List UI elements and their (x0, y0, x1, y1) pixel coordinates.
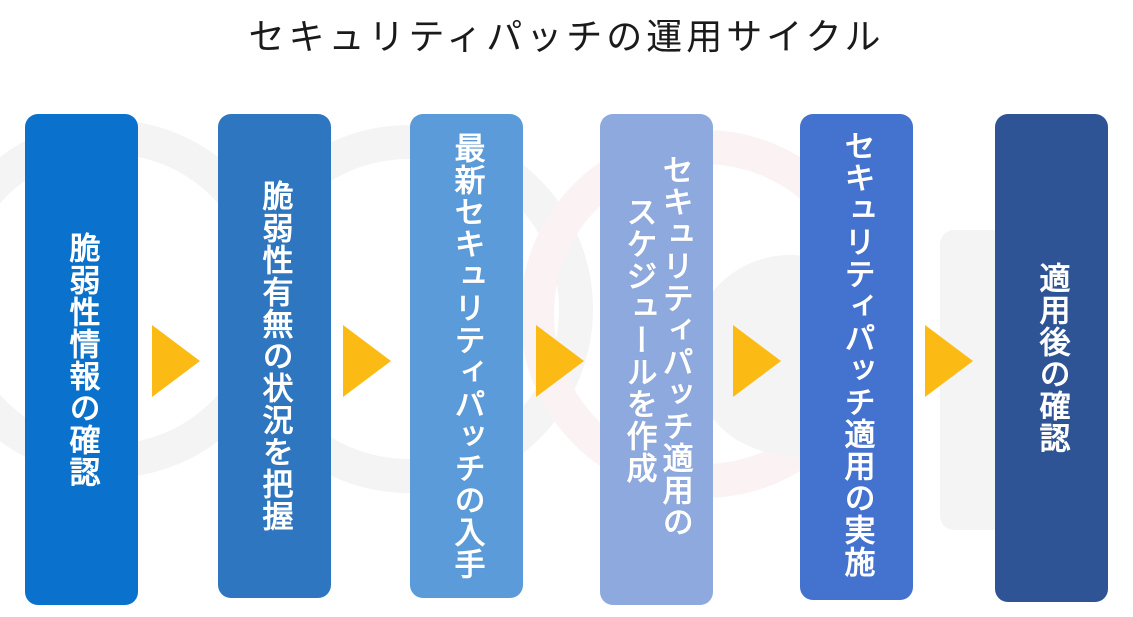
process-step-2[interactable]: 脆弱性有無の状況を把握 (218, 114, 331, 598)
page-title: セキュリティパッチの運用サイクル (0, 8, 1133, 60)
process-step-4-label-line-1: セキュリティパッチ適用の (658, 154, 692, 538)
diagram-canvas: セキュリティパッチの運用サイクル 脆弱性情報の確認 脆弱性有無の状況を把握 最新… (0, 0, 1133, 617)
process-step-4-label-line-2: スケジュールを作成 (621, 196, 655, 484)
process-step-6[interactable]: 適用後の確認 (995, 114, 1108, 602)
flow-arrow-4 (733, 325, 781, 397)
process-step-5-label: セキュリティパッチ適用の実施 (839, 130, 873, 578)
process-step-3-label: 最新セキュリティパッチの入手 (449, 132, 483, 580)
process-step-5[interactable]: セキュリティパッチ適用の実施 (800, 114, 913, 600)
process-step-1[interactable]: 脆弱性情報の確認 (25, 114, 138, 605)
flow-arrow-2 (343, 325, 391, 397)
process-flow: 脆弱性情報の確認 脆弱性有無の状況を把握 最新セキュリティパッチの入手 セキュリ… (0, 0, 1133, 617)
process-step-3[interactable]: 最新セキュリティパッチの入手 (410, 114, 523, 598)
process-step-4[interactable]: セキュリティパッチ適用の スケジュールを作成 (600, 114, 713, 605)
process-step-2-label: 脆弱性有無の状況を把握 (257, 180, 291, 532)
process-step-1-label: 脆弱性情報の確認 (64, 232, 98, 488)
flow-arrow-3 (536, 325, 584, 397)
flow-arrow-5 (925, 325, 973, 397)
process-step-6-label: 適用後の確認 (1034, 262, 1068, 454)
flow-arrow-1 (152, 325, 200, 397)
